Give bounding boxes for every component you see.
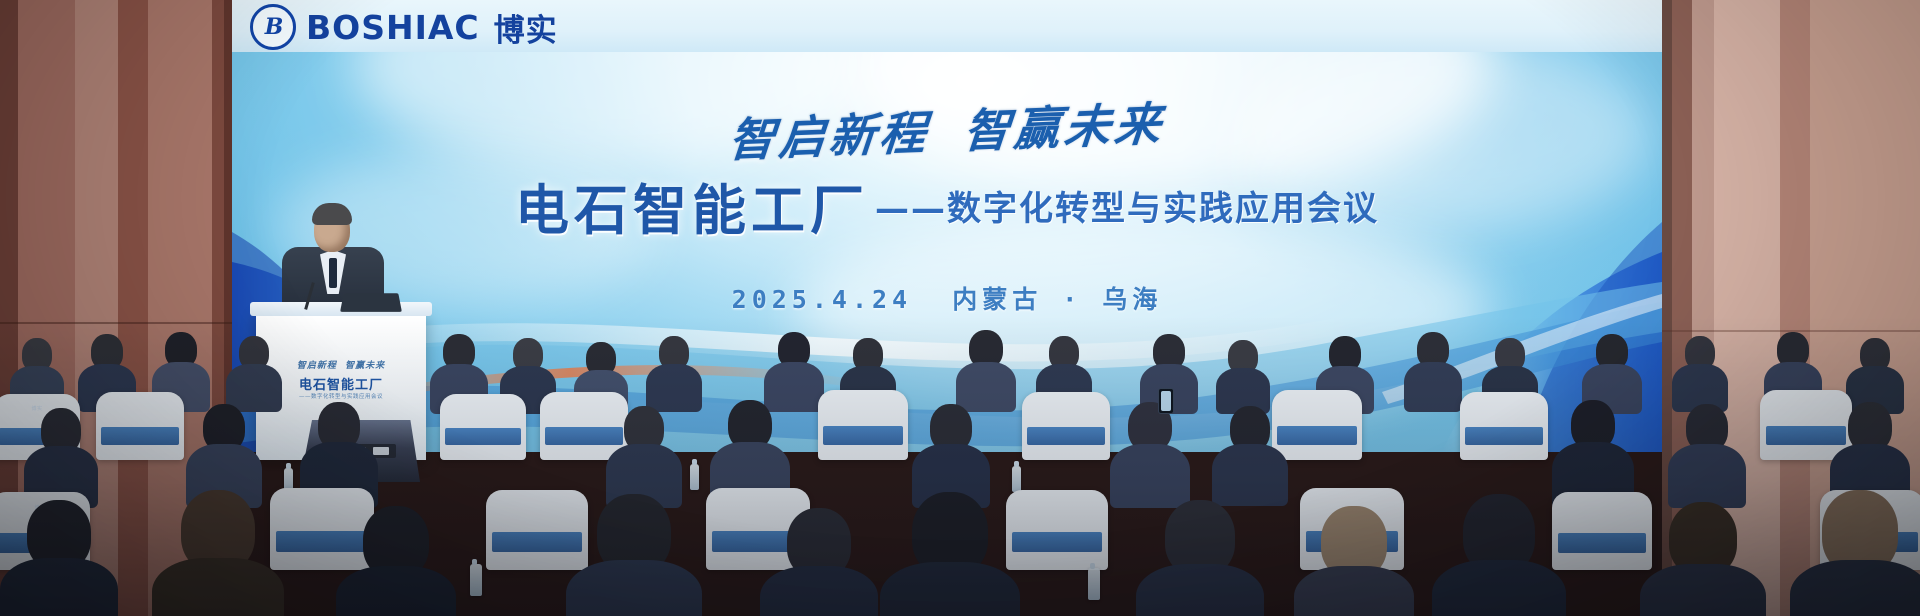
attendee [24,408,98,504]
attendee [226,336,282,410]
water-bottle [1088,568,1100,600]
attendee [646,336,702,410]
chair-cover [1022,392,1110,460]
logo-wordmark: BOSHIAC [306,8,480,47]
attendee [1830,402,1910,504]
calligraphy-left: 智启新程 [727,106,932,168]
attendee [1846,338,1904,412]
attendee-body [1790,560,1920,616]
attendee [0,500,118,616]
speaker-hair [312,203,352,225]
chair-cover [96,392,184,460]
attendee [1110,402,1190,504]
attendee-body [1432,560,1566,616]
attendee-body [646,364,702,412]
chair-sash [1558,533,1646,553]
water-bottle [690,464,699,490]
calligraphy-right: 智赢未来 [962,97,1167,159]
water-bottle [1012,466,1021,492]
logo-mark-letter: B [265,14,282,40]
chair-cover [440,394,526,460]
title-sub-text: ——数字化转型与实践应用会议 [875,189,1379,229]
attendee-body [1136,564,1264,616]
attendee-body [760,566,878,616]
smartphone-icon [1158,388,1174,414]
attendee-body [1212,444,1288,506]
attendee-body [1668,444,1746,508]
boshiac-logo: B BOSHIAC 博实 [250,4,558,50]
chair-cover [1552,492,1652,570]
attendee [1552,400,1634,506]
attendee [606,406,682,504]
screen-main-title: 电石智能工厂——数字化转型与实践应用会议 [232,166,1662,245]
attendee-body [880,562,1020,616]
attendee-body [1294,566,1414,616]
attendee [1582,334,1642,410]
attendee-body [336,566,456,616]
attendee [1216,340,1270,410]
attendee-body [566,560,702,616]
audience-seating: 博实 [0,316,1920,616]
boshiac-circle-logo-icon: B [250,4,296,50]
chair-sash [101,427,178,445]
attendee [1212,406,1288,504]
chair-sash [1012,532,1102,553]
chair-sash [1277,426,1356,444]
attendee [336,506,456,616]
water-bottle [470,564,482,596]
conference-photo: 智启新程智赢未来 电石智能工厂——数字化转型与实践应用会议 2025.4.24 … [0,0,1920,616]
screen-date-location: 2025.4.24 内蒙古 · 乌海 [232,280,1662,316]
attendee-body [152,558,284,616]
title-main-text: 电石智能工厂 [515,179,869,242]
attendee [764,332,824,410]
attendee-body [0,558,118,616]
chair-sash [445,428,521,445]
chair-sash [1465,427,1542,445]
attendee [1432,494,1566,616]
attendee [1404,332,1462,410]
laptop-icon [340,293,402,312]
chair-cover [1006,490,1108,570]
chair-cover [818,390,908,460]
attendee [760,508,878,616]
attendee [1790,490,1920,616]
chair-sash [1027,427,1104,445]
attendee-body [1110,444,1190,508]
attendee [880,492,1020,616]
attendee [1136,500,1264,616]
attendee [1294,506,1414,616]
attendee [956,330,1016,410]
chair-sash [823,426,902,444]
attendee [1640,502,1766,616]
attendee [1672,336,1728,410]
attendee [186,404,262,504]
attendee [1668,404,1746,504]
attendee-body [1404,362,1462,412]
attendee [566,494,702,616]
attendee-body [1640,564,1766,616]
attendee [912,404,990,504]
chair-cover [1460,392,1548,460]
attendee [152,490,284,616]
logo-wordmark-cn: 博实 [494,5,558,50]
speaker-tie [329,258,337,288]
screen-brand-bar: B BOSHIAC 博实 [232,0,1662,52]
